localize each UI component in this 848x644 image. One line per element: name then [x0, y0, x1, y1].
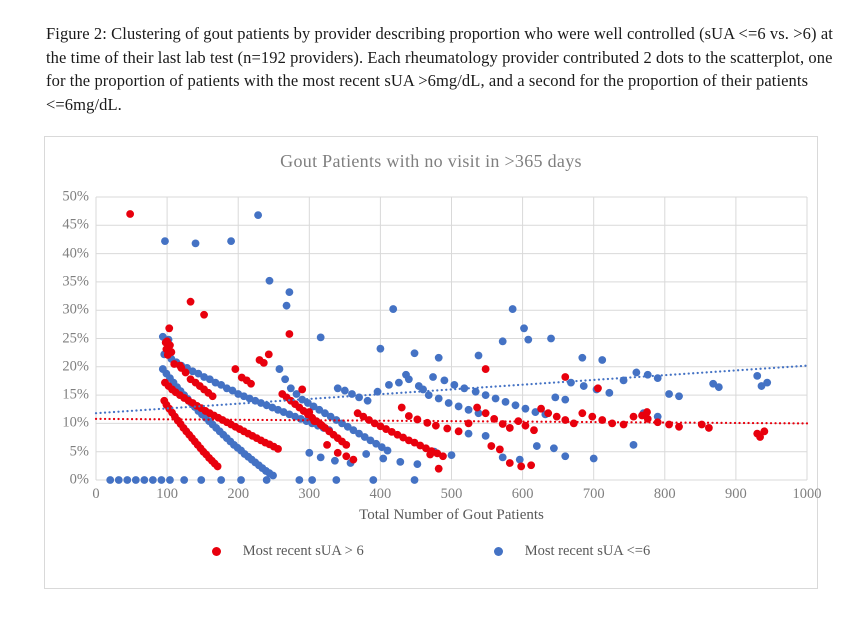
y-tick-label: 15%: [62, 387, 89, 404]
y-tick-label: 45%: [62, 217, 89, 234]
x-tick-label: 800: [654, 486, 676, 503]
x-tick-label: 200: [227, 486, 249, 503]
y-tick-label: 40%: [62, 245, 89, 262]
x-axis-title: Total Number of Gout Patients: [96, 507, 807, 524]
figure-container: Gout Patients with no visit in >365 days…: [44, 136, 818, 589]
legend-item-sua-gt-6[interactable]: Most recent sUA > 6: [212, 543, 364, 560]
x-tick-label: 700: [583, 486, 605, 503]
y-tick-label: 30%: [62, 302, 89, 319]
y-tick-label: 35%: [62, 273, 89, 290]
x-tick-label: 0: [92, 486, 99, 503]
x-tick-label: 900: [725, 486, 747, 503]
legend-label-blue: Most recent sUA <=6: [525, 543, 651, 560]
x-tick-label: 100: [156, 486, 178, 503]
plot-wrapper: 0%5%10%15%20%25%30%35%40%45%50% 01002003…: [96, 197, 807, 480]
legend-label-red: Most recent sUA > 6: [243, 543, 364, 560]
chart-legend: Most recent sUA > 6 Most recent sUA <=6: [45, 543, 817, 560]
legend-marker-red: [212, 547, 221, 556]
y-tick-label: 10%: [62, 415, 89, 432]
legend-marker-blue: [494, 547, 503, 556]
x-tick-label: 600: [512, 486, 534, 503]
y-tick-label: 20%: [62, 358, 89, 375]
figure-caption: Figure 2: Clustering of gout patients by…: [46, 22, 836, 116]
legend-item-sua-lte-6[interactable]: Most recent sUA <=6: [494, 543, 651, 560]
chart-title: Gout Patients with no visit in >365 days: [45, 151, 817, 172]
x-tick-label: 1000: [793, 486, 822, 503]
y-tick-label: 5%: [70, 443, 89, 460]
trendlines: [96, 197, 807, 480]
y-tick-label: 50%: [62, 189, 89, 206]
y-tick-label: 0%: [70, 472, 89, 489]
x-tick-label: 300: [298, 486, 320, 503]
y-tick-label: 25%: [62, 330, 89, 347]
x-tick-label: 400: [370, 486, 392, 503]
x-tick-label: 500: [441, 486, 463, 503]
plot-area: [96, 197, 807, 480]
